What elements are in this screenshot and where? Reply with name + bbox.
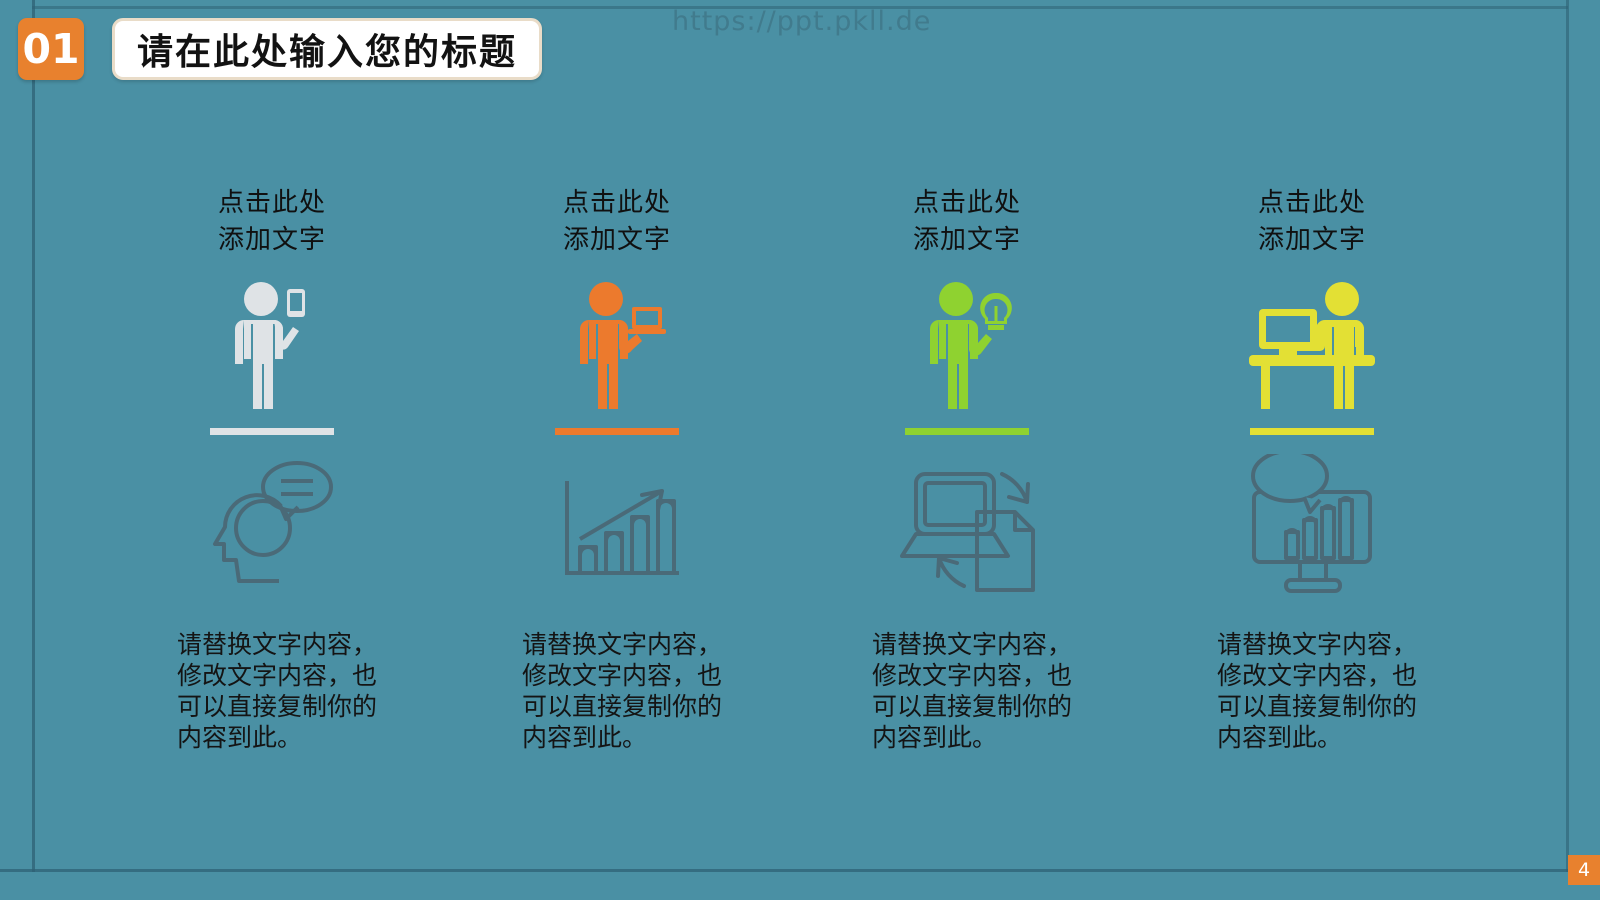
person-at-desk-icon <box>1237 274 1387 409</box>
frame-line-bottom <box>0 869 1568 872</box>
page-number-badge: 4 <box>1568 855 1600 885</box>
monitor-chart-speech-icon <box>1242 451 1382 601</box>
column-divider-3 <box>905 428 1029 435</box>
section-number-badge: 01 <box>18 18 84 80</box>
content-column-3: 点击此处 添加文字 <box>792 185 1142 753</box>
person-with-lightbulb-icon <box>912 274 1022 409</box>
page-title: 请在此处输入您的标题 <box>137 23 517 75</box>
column-divider-2 <box>555 428 679 435</box>
content-column-1: 点击此处 添加文字 <box>97 185 447 753</box>
column-divider-1 <box>210 428 334 435</box>
slide-canvas: https://ppt.pkll.de 01 请在此处输入您的标题 点击此处 添… <box>0 0 1600 900</box>
content-column-2: 点击此处 添加文字 <box>442 185 792 753</box>
watermark-text: https://ppt.pkll.de <box>672 6 931 37</box>
column-heading-3[interactable]: 点击此处 添加文字 <box>913 185 1021 259</box>
laptop-document-exchange-icon <box>892 451 1042 601</box>
column-heading-4[interactable]: 点击此处 添加文字 <box>1258 185 1366 259</box>
growth-bar-chart-icon <box>550 451 685 601</box>
head-with-speech-bubble-icon <box>205 451 340 601</box>
column-body-1[interactable]: 请替换文字内容，修改文字内容，也可以直接复制你的内容到此。 <box>177 629 377 753</box>
person-with-phone-icon <box>217 274 327 409</box>
person-with-laptop-icon <box>562 274 672 409</box>
slide-header: 01 请在此处输入您的标题 <box>18 18 542 80</box>
column-heading-2[interactable]: 点击此处 添加文字 <box>563 185 671 259</box>
column-heading-1[interactable]: 点击此处 添加文字 <box>218 185 326 259</box>
title-box[interactable]: 请在此处输入您的标题 <box>112 18 542 80</box>
column-body-2[interactable]: 请替换文字内容，修改文字内容，也可以直接复制你的内容到此。 <box>522 629 722 753</box>
column-body-3[interactable]: 请替换文字内容，修改文字内容，也可以直接复制你的内容到此。 <box>872 629 1072 753</box>
column-body-4[interactable]: 请替换文字内容，修改文字内容，也可以直接复制你的内容到此。 <box>1217 629 1417 753</box>
content-columns: 点击此处 添加文字 <box>0 185 1600 753</box>
content-column-4: 点击此处 添加文字 <box>1137 185 1487 753</box>
column-divider-4 <box>1250 428 1374 435</box>
